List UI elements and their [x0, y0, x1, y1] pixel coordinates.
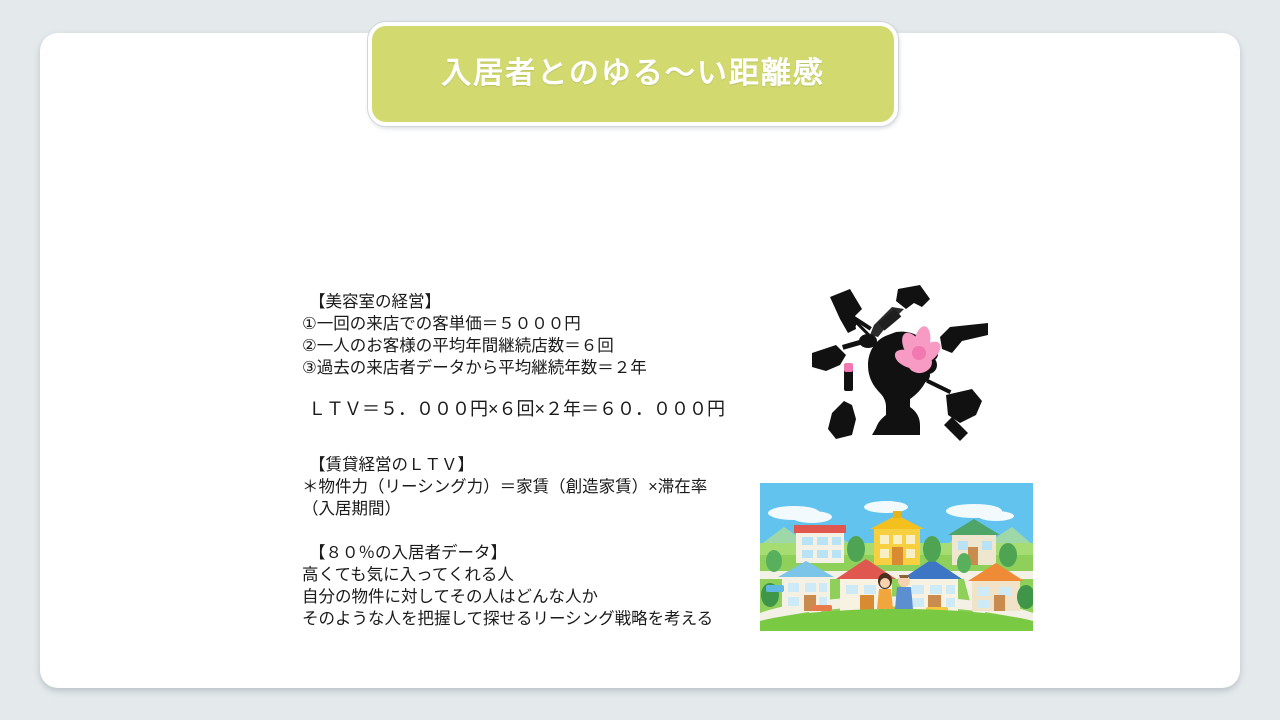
ltv-formula: ＬＴＶ＝５．０００円×６回×２年＝６０．０００円	[308, 398, 725, 420]
salon-block-line-1: ①一回の来店での客単価＝５０００円	[302, 313, 647, 335]
residential-neighborhood-image	[760, 483, 1033, 631]
salon-text-block: 【美容室の経営】 ①一回の来店での客単価＝５０００円 ②一人のお客様の平均年間継…	[302, 291, 647, 379]
banner-title-text: 入居者とのゆる～い距離感	[441, 59, 825, 89]
rental-block-line-2: （入居期間）	[302, 498, 707, 520]
slide-card: ＬＴＶ＝ライフタイムバリュー（顧客生涯価値） 【美容室の経営】 ①一回の来店での…	[40, 33, 1240, 688]
tenant-block-line-3: そのような人を把握して探せるリーシング戦略を考える	[302, 608, 713, 630]
tenant-text-block: 【８０％の入居者データ】 高くても気に入ってくれる人 自分の物件に対してその人は…	[302, 542, 713, 630]
beauty-salon-silhouette-image	[810, 283, 990, 443]
tenant-block-heading: 【８０％の入居者データ】	[302, 542, 713, 564]
tenant-block-line-2: 自分の物件に対してその人はどんな人か	[302, 586, 713, 608]
rental-block-line-1: ＊物件力（リーシング力）＝家賃（創造家賃）×滞在率	[302, 476, 707, 498]
salon-block-heading: 【美容室の経営】	[302, 291, 647, 313]
ltv-formula-text: ＬＴＶ＝５．０００円×６回×２年＝６０．０００円	[308, 398, 725, 420]
salon-block-line-3: ③過去の来店者データから平均継続年数＝２年	[302, 357, 647, 379]
page-title: ＬＴＶ＝ライフタイムバリュー（顧客生涯価値）	[40, 203, 1240, 245]
salon-block-line-2: ②一人のお客様の平均年間継続店数＝６回	[302, 335, 647, 357]
rental-text-block: 【賃貸経営のＬＴＶ】 ＊物件力（リーシング力）＝家賃（創造家賃）×滞在率 （入居…	[302, 454, 707, 520]
title-banner: 入居者とのゆる～い距離感	[368, 22, 898, 126]
rental-block-heading: 【賃貸経営のＬＴＶ】	[302, 454, 707, 476]
tenant-block-line-1: 高くても気に入ってくれる人	[302, 564, 713, 586]
